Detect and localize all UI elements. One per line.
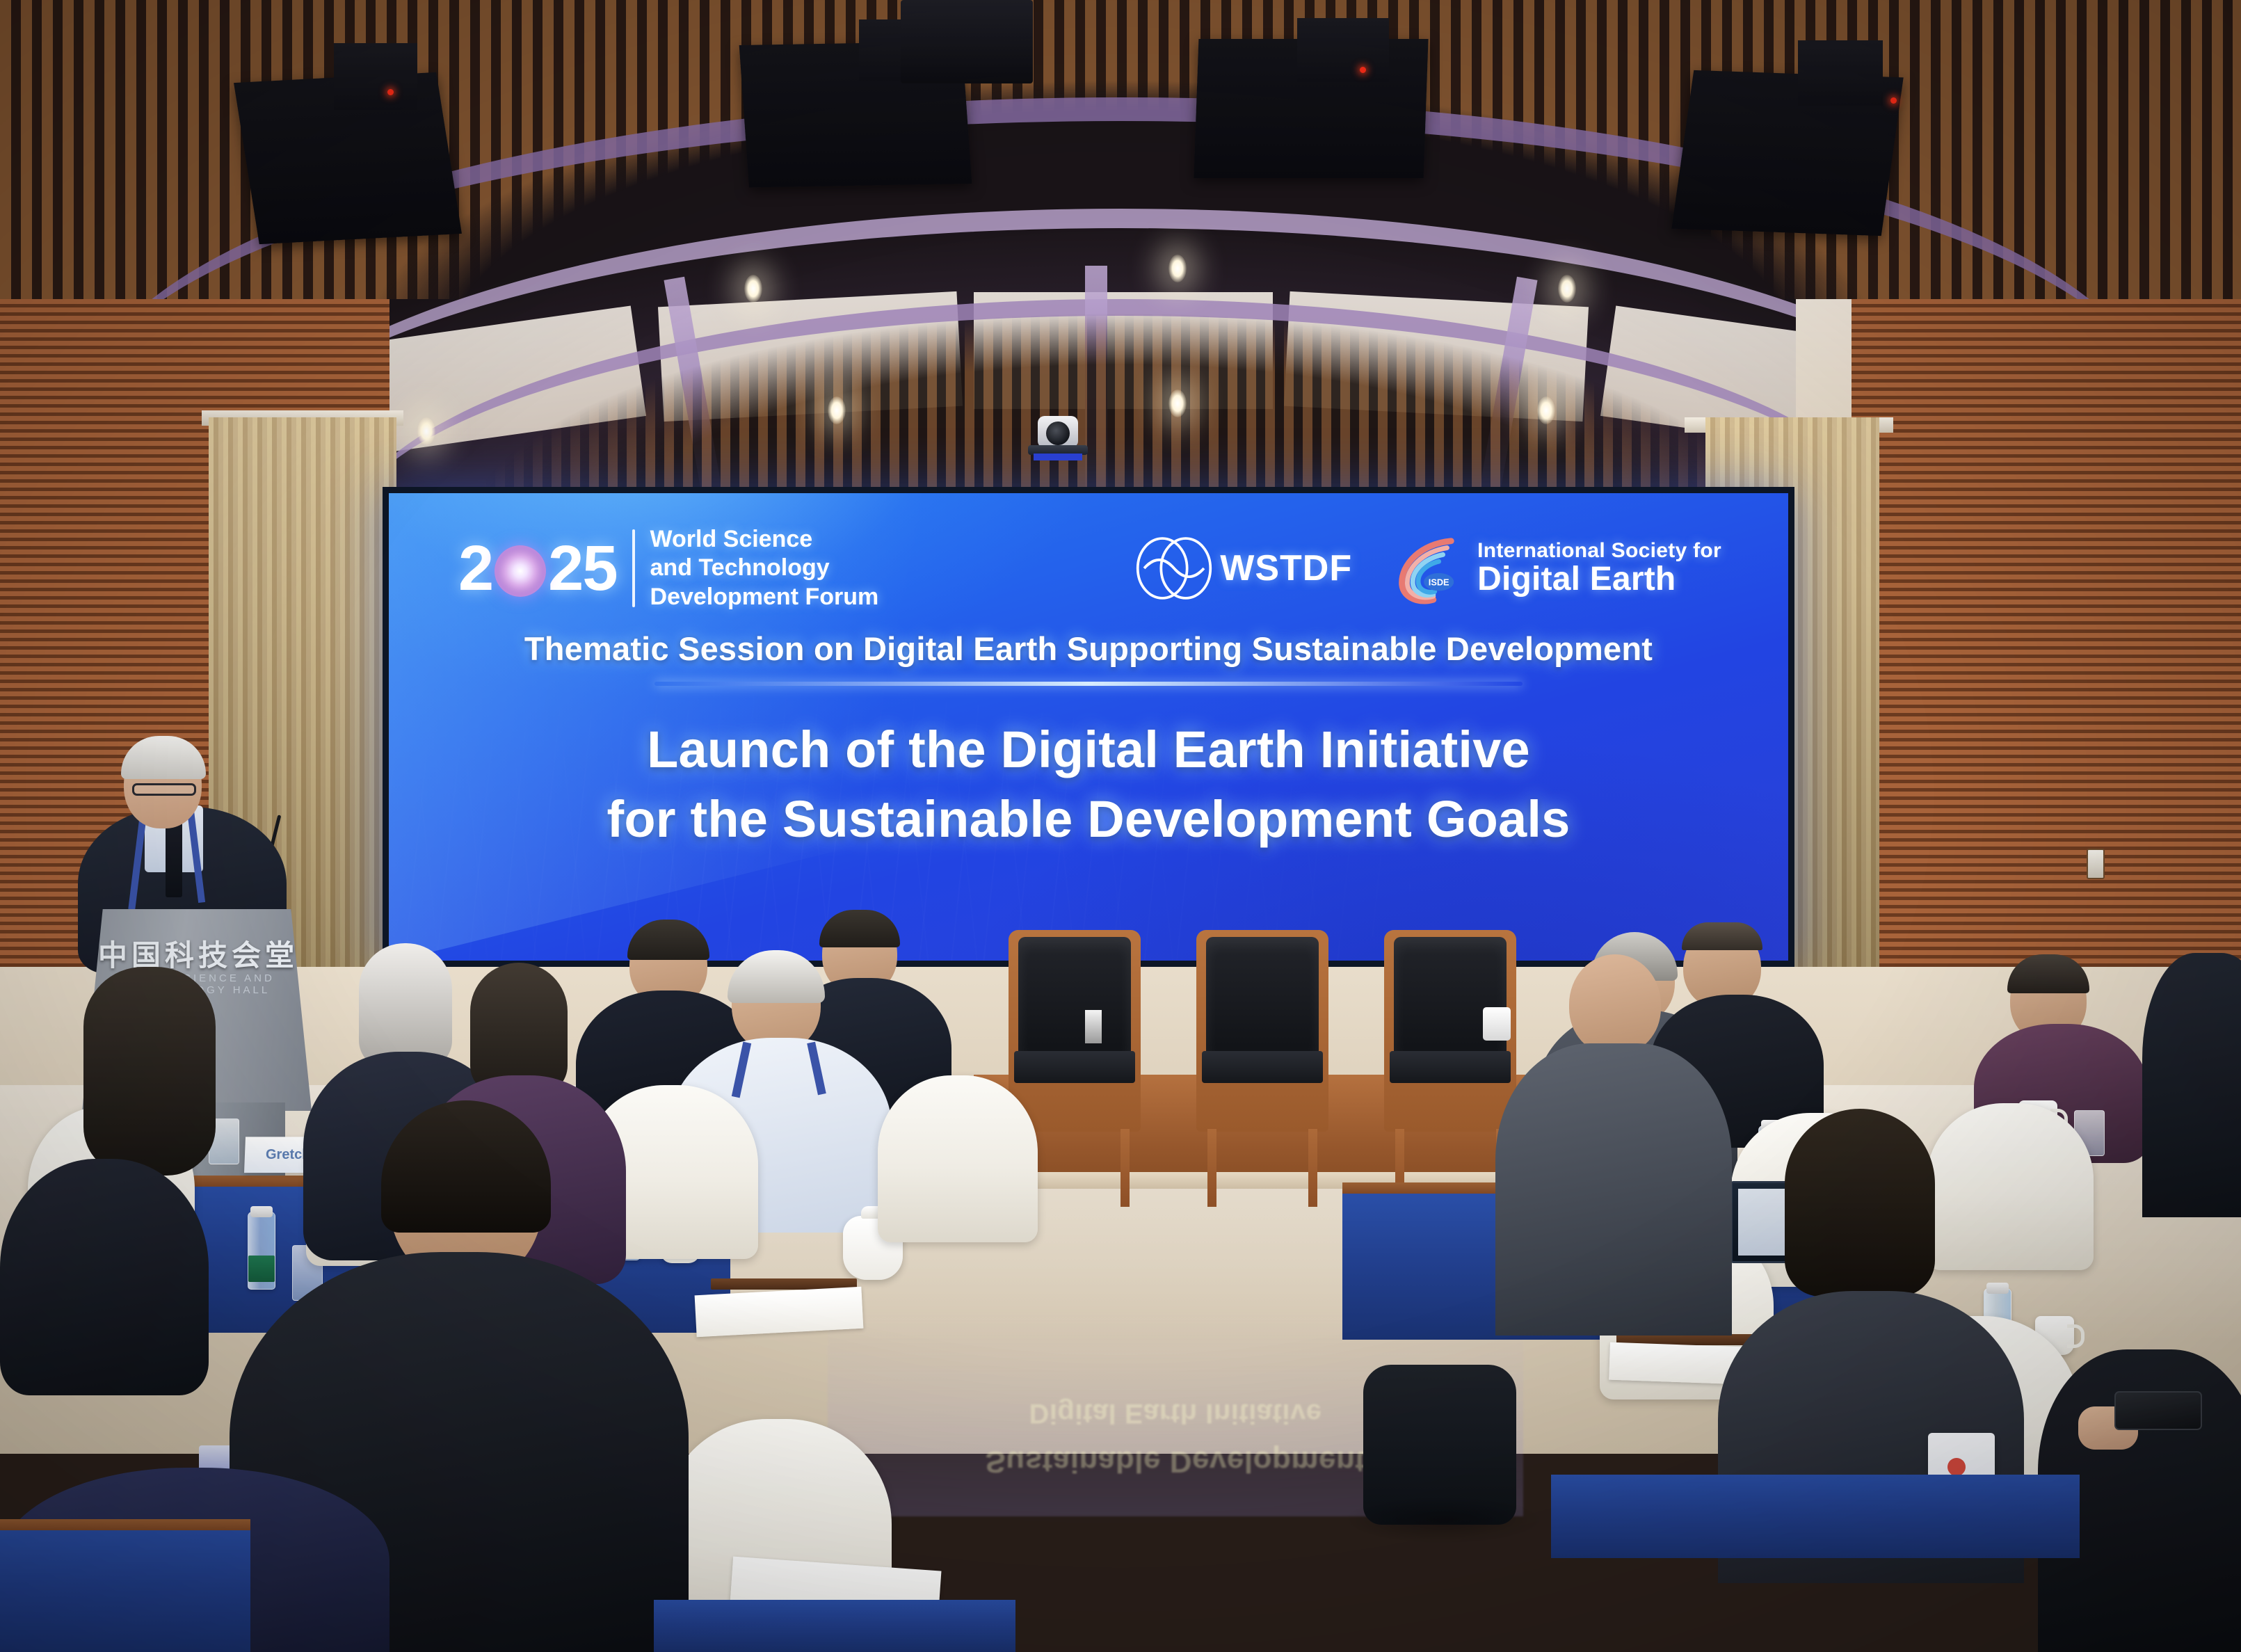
logo-divider xyxy=(632,529,635,607)
status-led-indicator xyxy=(387,89,394,95)
ceiling-downlight xyxy=(828,396,846,424)
headline-line2: for the Sustainable Development Goals xyxy=(431,785,1746,853)
ptz-conference-camera xyxy=(1028,416,1088,459)
ceiling-downlight xyxy=(1168,255,1187,282)
wall-control-panel[interactable] xyxy=(2087,849,2105,879)
chair-cover[interactable] xyxy=(1927,1103,2094,1270)
partner-logos: WSTDF ISDE xyxy=(1135,531,1728,605)
isde-swoosh-icon: ISDE xyxy=(1385,531,1468,605)
ceiling-speaker-box xyxy=(1297,18,1389,82)
stage-chair[interactable] xyxy=(1196,930,1328,1132)
forum-name-line1: World Science xyxy=(650,525,879,554)
mobile-phone[interactable] xyxy=(2114,1391,2202,1430)
ceiling-projector xyxy=(901,0,1033,83)
ceiling-downlight xyxy=(744,275,762,303)
conference-table xyxy=(0,1530,250,1652)
water-bottle xyxy=(248,1212,275,1290)
isde-line2: Digital Earth xyxy=(1477,562,1721,597)
speaker-eyeglasses xyxy=(132,783,196,796)
slide-headline: Launch of the Digital Earth Initiative f… xyxy=(431,715,1746,853)
forum-name-line2: and Technology xyxy=(650,554,879,582)
ceiling-downlight xyxy=(1537,396,1555,424)
chair-cover[interactable] xyxy=(878,1075,1038,1242)
session-title: Thematic Session on Digital Earth Suppor… xyxy=(431,629,1746,668)
object-shadow xyxy=(1342,1495,1544,1544)
wstdf-label: WSTDF xyxy=(1220,547,1352,589)
bottle-cap xyxy=(1986,1283,2009,1294)
globe-icon xyxy=(495,545,546,597)
forum-name-line3: Development Forum xyxy=(650,583,879,611)
isde-wordmark: International Society for Digital Earth xyxy=(1477,540,1721,597)
led-video-wall: 2 25 World Science and Technology Develo… xyxy=(383,487,1794,967)
conference-hall-photo: 2 25 World Science and Technology Develo… xyxy=(0,0,2241,1652)
forum-name: World Science and Technology Development… xyxy=(650,525,879,611)
bottle-cap xyxy=(250,1206,273,1217)
year-digit-prefix: 2 xyxy=(458,536,492,600)
attendee-hair xyxy=(359,943,452,1068)
svg-text:ISDE: ISDE xyxy=(1429,577,1449,588)
attendee-hair xyxy=(1785,1109,1935,1297)
slide-divider-rule xyxy=(654,682,1523,686)
slide-surface: 2 25 World Science and Technology Develo… xyxy=(389,493,1788,961)
stage-chair-cup xyxy=(1483,1007,1511,1041)
ceiling-downlight xyxy=(417,417,435,445)
headline-line1: Launch of the Digital Earth Initiative xyxy=(431,715,1746,784)
attendee-hair xyxy=(83,967,216,1176)
stage-chair-microphone xyxy=(1085,1010,1102,1043)
ceiling-speaker-box xyxy=(334,43,417,110)
paper-cup-graphic xyxy=(1947,1458,1966,1476)
conference-table xyxy=(1551,1475,2080,1558)
speaker-necktie xyxy=(166,821,182,897)
attendee-torso xyxy=(1495,1043,1732,1336)
status-led-indicator xyxy=(1360,67,1366,73)
isde-logo: ISDE International Society for Digital E… xyxy=(1385,531,1721,605)
ceiling-downlight xyxy=(1168,390,1187,417)
attendee-torso xyxy=(2142,953,2241,1217)
attendee-head xyxy=(1569,954,1661,1054)
printed-document xyxy=(695,1287,864,1337)
wstdf-infinity-icon xyxy=(1135,535,1213,602)
ceiling-speaker-box xyxy=(1798,40,1883,106)
wstdf-logo: WSTDF xyxy=(1135,535,1352,602)
ceiling-downlight xyxy=(1558,275,1576,303)
attendee-hair xyxy=(1682,922,1762,950)
forum-year: 2 25 xyxy=(458,536,617,600)
year-digit-suffix: 25 xyxy=(548,536,616,600)
lectern-venue-name: 中国科技会堂 xyxy=(90,932,306,975)
forum-logo-lockup: 2 25 World Science and Technology Develo… xyxy=(458,525,878,611)
status-led-indicator xyxy=(1890,97,1897,104)
isde-line1: International Society for xyxy=(1477,540,1721,562)
attendee-torso xyxy=(0,1159,209,1395)
conference-table xyxy=(654,1600,1015,1652)
slide-logo-row: 2 25 World Science and Technology Develo… xyxy=(431,513,1746,611)
stage-chair[interactable] xyxy=(1009,930,1141,1132)
